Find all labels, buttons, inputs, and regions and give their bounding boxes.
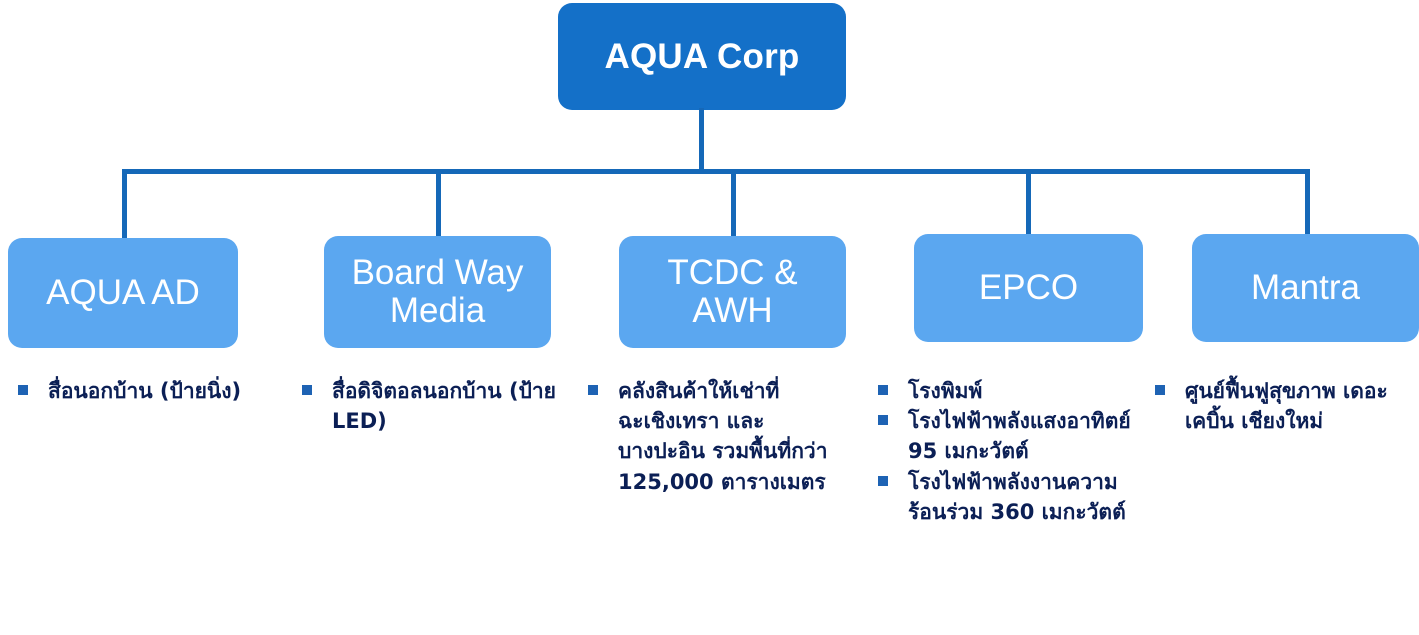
- bullet-square-icon: [302, 385, 312, 395]
- bullet-square-icon: [588, 385, 598, 395]
- org-node-tcdc-awh[interactable]: TCDC & AWH: [619, 236, 846, 348]
- bullet-text: สื่อนอกบ้าน (ป้ายนิ่ง): [48, 376, 268, 406]
- bullet-list-epco: โรงพิมพ์ โรงไฟฟ้าพลังแสงอาทิตย์ 95 เมกะว…: [878, 376, 1150, 527]
- org-node-board-way-media[interactable]: Board Way Media: [324, 236, 551, 348]
- bullet-text: โรงไฟฟ้าพลังงานความร้อนร่วม 360 เมกะวัตต…: [908, 467, 1150, 527]
- bullet-square-icon: [878, 385, 888, 395]
- list-item: สื่อดิจิตอลนอกบ้าน (ป้าย LED): [302, 376, 562, 436]
- org-node-aqua-ad[interactable]: AQUA AD: [8, 238, 238, 348]
- list-item: สื่อนอกบ้าน (ป้ายนิ่ง): [18, 376, 268, 406]
- connector-horizontal-bus: [122, 169, 1310, 174]
- list-item: โรงไฟฟ้าพลังงานความร้อนร่วม 360 เมกะวัตต…: [878, 467, 1150, 527]
- connector-drop-mantra: [1305, 169, 1310, 235]
- org-node-tcdc-awh-label: TCDC & AWH: [625, 254, 840, 330]
- org-chart-canvas: AQUA Corp AQUA AD Board Way Media TCDC &…: [0, 0, 1419, 635]
- connector-drop-board-way-media: [436, 169, 441, 239]
- bullet-text: สื่อดิจิตอลนอกบ้าน (ป้าย LED): [332, 376, 562, 436]
- org-node-root-label: AQUA Corp: [605, 38, 800, 76]
- bullet-text: ศูนย์ฟื้นฟูสุขภาพ เดอะเคบิ้น เชียงใหม่: [1185, 376, 1407, 436]
- bullet-list-mantra: ศูนย์ฟื้นฟูสุขภาพ เดอะเคบิ้น เชียงใหม่: [1155, 376, 1407, 436]
- list-item: คลังสินค้าให้เช่าที่ฉะเชิงเทรา และบางปะอ…: [588, 376, 848, 497]
- list-item: ศูนย์ฟื้นฟูสุขภาพ เดอะเคบิ้น เชียงใหม่: [1155, 376, 1407, 436]
- bullet-square-icon: [1155, 385, 1165, 395]
- org-node-epco[interactable]: EPCO: [914, 234, 1143, 342]
- bullet-square-icon: [18, 385, 28, 395]
- org-node-aqua-ad-label: AQUA AD: [46, 274, 200, 312]
- bullet-list-board-way-media: สื่อดิจิตอลนอกบ้าน (ป้าย LED): [302, 376, 562, 436]
- list-item: โรงพิมพ์: [878, 376, 1150, 406]
- connector-drop-tcdc-awh: [731, 169, 736, 239]
- bullet-text: โรงไฟฟ้าพลังแสงอาทิตย์ 95 เมกะวัตต์: [908, 406, 1150, 466]
- bullet-square-icon: [878, 476, 888, 486]
- connector-drop-aqua-ad: [122, 169, 127, 239]
- list-item: โรงไฟฟ้าพลังแสงอาทิตย์ 95 เมกะวัตต์: [878, 406, 1150, 466]
- org-node-root[interactable]: AQUA Corp: [558, 3, 846, 110]
- bullet-square-icon: [878, 415, 888, 425]
- bullet-text: โรงพิมพ์: [908, 376, 1150, 406]
- connector-root-stem: [699, 108, 704, 174]
- bullet-list-tcdc-awh: คลังสินค้าให้เช่าที่ฉะเชิงเทรา และบางปะอ…: [588, 376, 848, 497]
- connector-drop-epco: [1026, 169, 1031, 235]
- org-node-board-way-media-label: Board Way Media: [330, 254, 545, 330]
- org-node-mantra-label: Mantra: [1251, 269, 1360, 307]
- org-node-epco-label: EPCO: [979, 269, 1078, 307]
- bullet-list-aqua-ad: สื่อนอกบ้าน (ป้ายนิ่ง): [18, 376, 268, 406]
- bullet-text: คลังสินค้าให้เช่าที่ฉะเชิงเทรา และบางปะอ…: [618, 376, 848, 497]
- org-node-mantra[interactable]: Mantra: [1192, 234, 1419, 342]
